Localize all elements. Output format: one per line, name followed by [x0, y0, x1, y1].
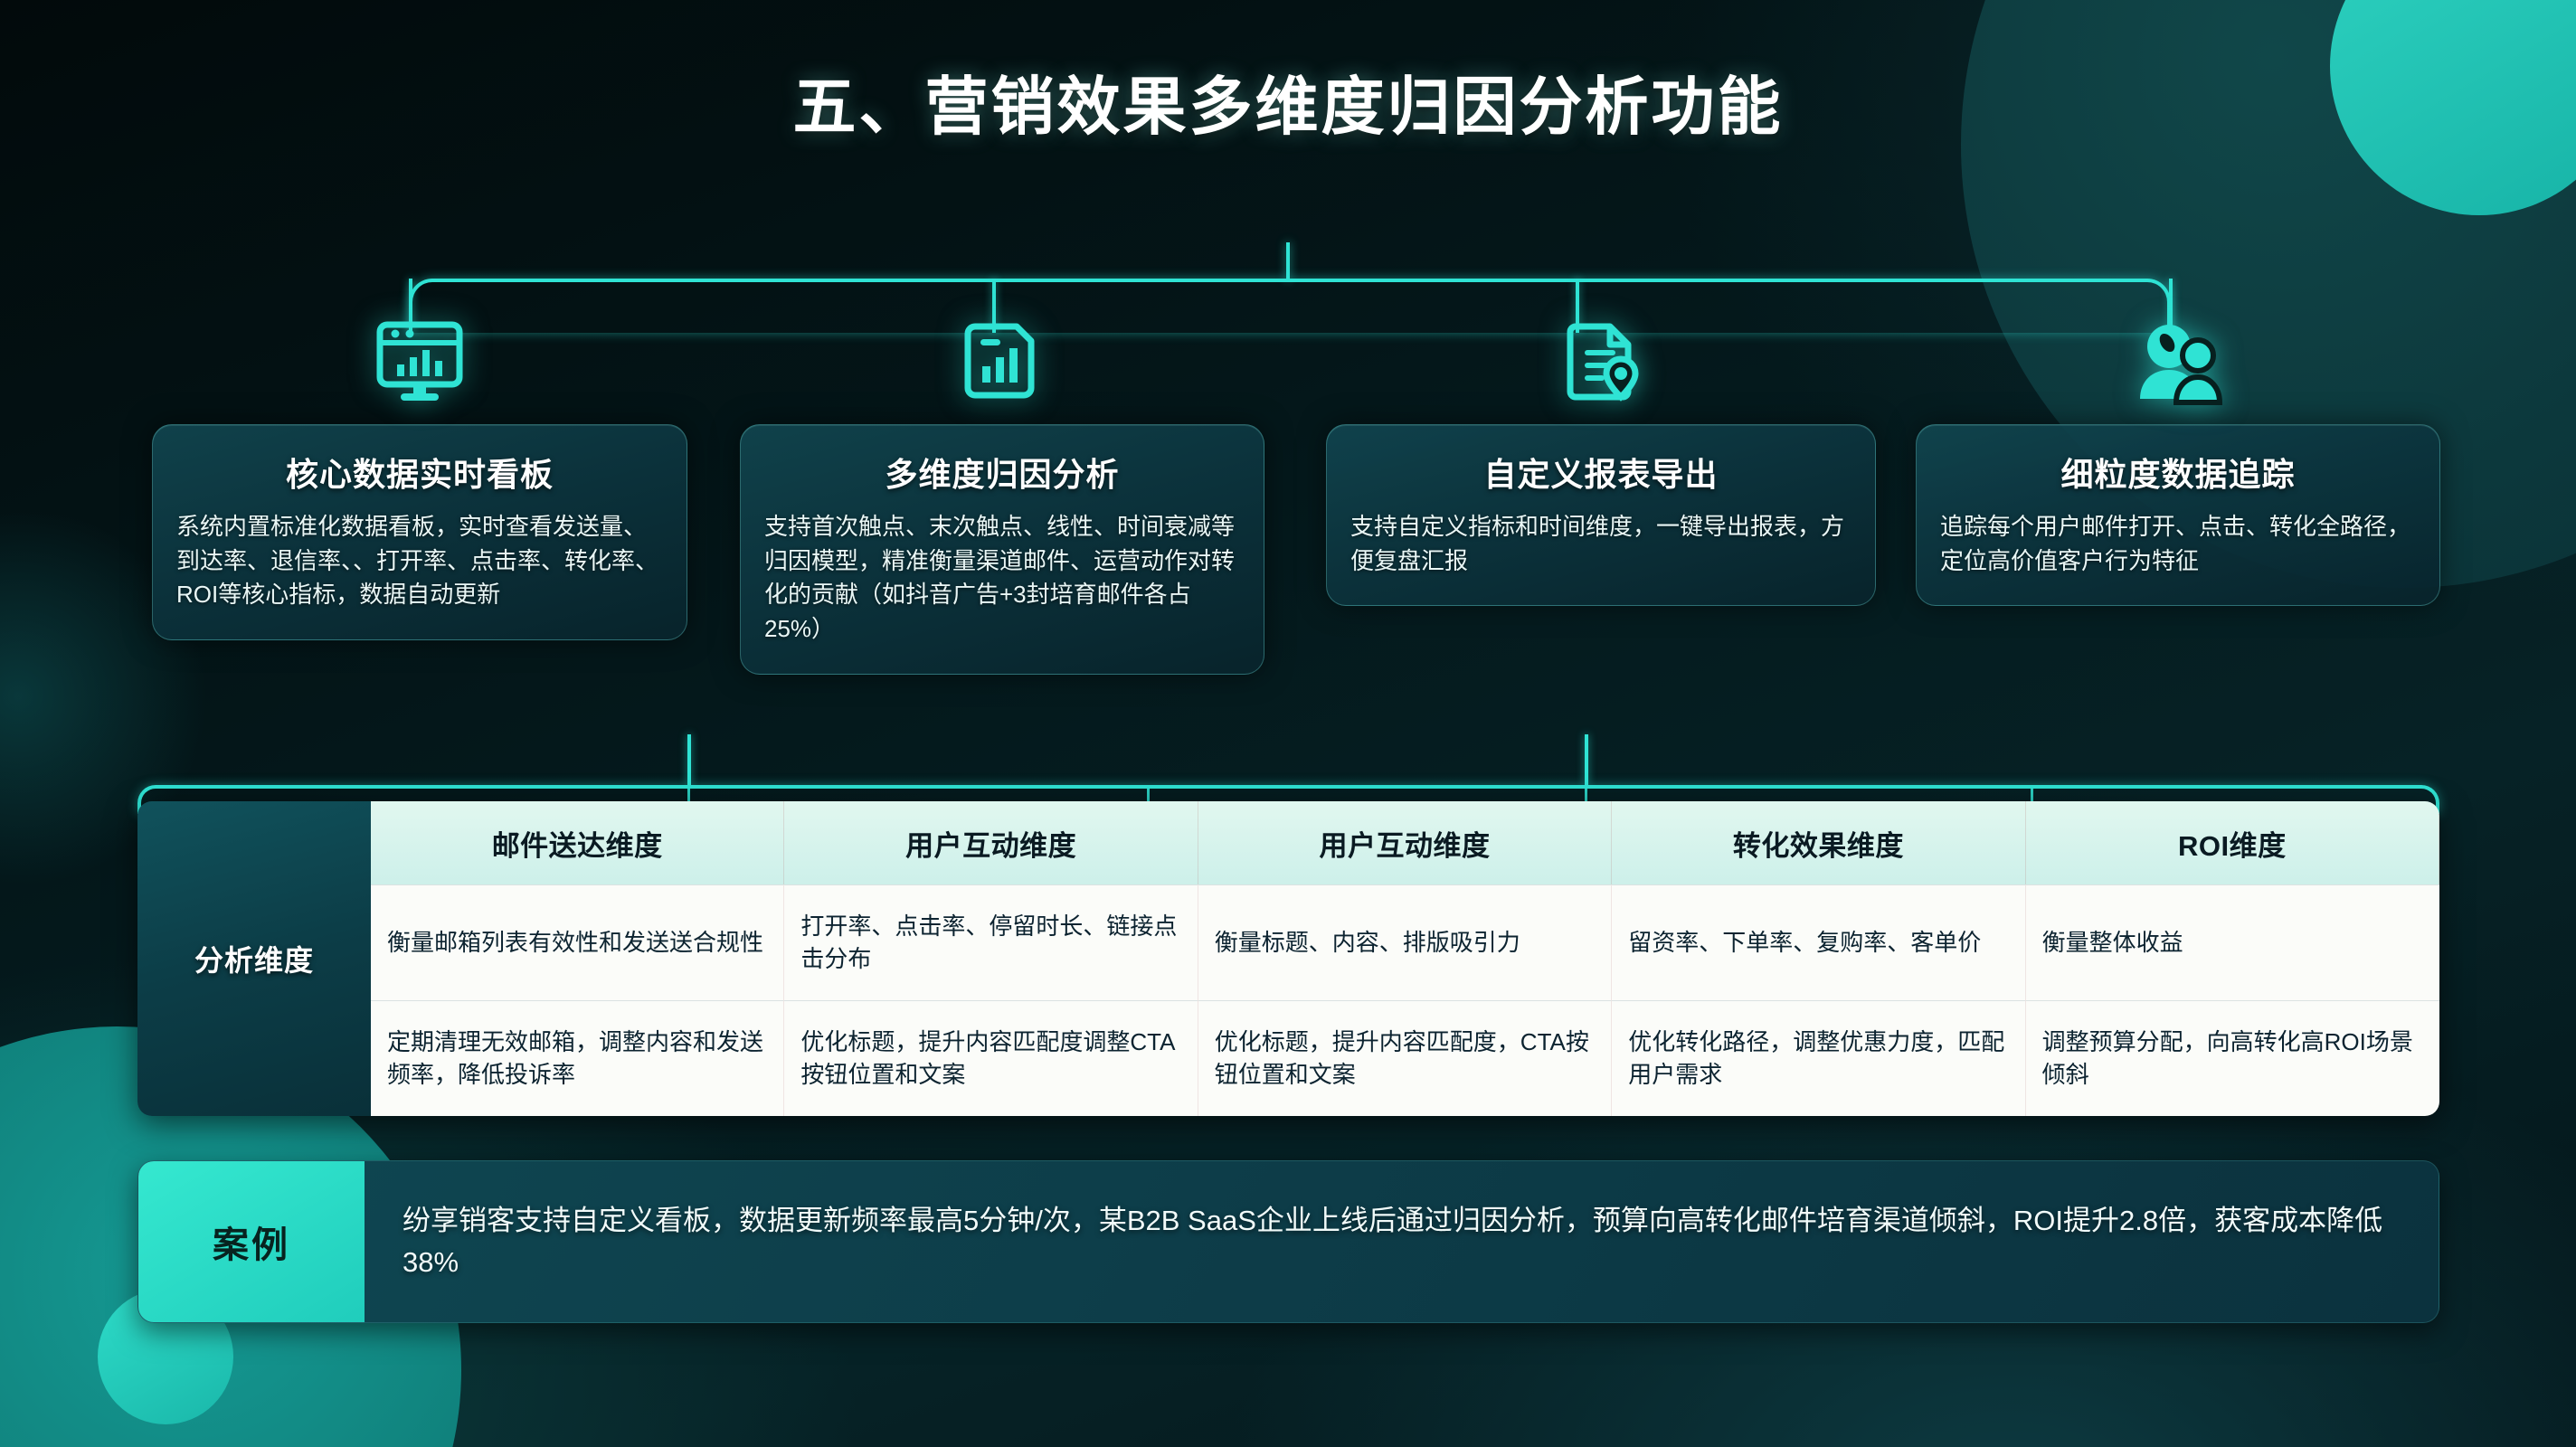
- connector-drop-lower-right: [1585, 734, 1588, 785]
- feature-card-1-title: 核心数据实时看板: [176, 449, 663, 496]
- table-header-cell-5: ROI维度: [2026, 801, 2439, 884]
- table-header-cell-4: 转化效果维度: [1612, 801, 2025, 884]
- feature-card-2[interactable]: 多维度归因分析 支持首次触点、末次触点、线性、时间衰减等归因模型，精准衡量渠道邮…: [740, 321, 1264, 675]
- table-row-label: 分析维度: [137, 801, 371, 1116]
- case-badge: 案例: [138, 1161, 365, 1322]
- dimension-table: 分析维度 邮件送达维度 用户互动维度 用户互动维度 转化效果维度 ROI维度 衡…: [137, 801, 2439, 1116]
- feature-card-3-title: 自定义报表导出: [1350, 449, 1851, 496]
- document-pin-icon: [1326, 321, 1876, 404]
- dashboard-monitor-icon: [152, 321, 687, 404]
- feature-card-4-title: 细粒度数据追踪: [1940, 449, 2416, 496]
- feature-card-1-body: 核心数据实时看板 系统内置标准化数据看板，实时查看发送量、到达率、退信率、、打开…: [152, 424, 687, 640]
- feature-card-3-body: 自定义报表导出 支持自定义指标和时间维度，一键导出报表，方便复盘汇报: [1326, 424, 1876, 606]
- feature-card-4-body: 细粒度数据追踪 追踪每个用户邮件打开、点击、转化全路径，定位高价值客户行为特征: [1916, 424, 2440, 606]
- case-text: 纷享销客支持自定义看板，数据更新频率最高5分钟/次，某B2B SaaS企业上线后…: [365, 1161, 2439, 1322]
- table-row: 优化转化路径，调整优惠力度，匹配用户需求: [1612, 1000, 2025, 1116]
- table-header-cell-3: 用户互动维度: [1198, 801, 1612, 884]
- connector-stub-title: [1286, 242, 1290, 280]
- report-bar-chart-icon: [740, 321, 1264, 404]
- connector-drop-lower-left: [687, 734, 691, 785]
- users-group-icon: [1916, 321, 2440, 404]
- case-study-box: 案例 纷享销客支持自定义看板，数据更新频率最高5分钟/次，某B2B SaaS企业…: [137, 1160, 2439, 1323]
- feature-card-1[interactable]: 核心数据实时看板 系统内置标准化数据看板，实时查看发送量、到达率、退信率、、打开…: [152, 321, 687, 640]
- table-row: 打开率、点击率、停留时长、链接点击分布: [784, 884, 1198, 1000]
- table-row: 定期清理无效邮箱，调整内容和发送频率，降低投诉率: [371, 1000, 784, 1116]
- feature-card-2-desc: 支持首次触点、末次触点、线性、时间衰减等归因模型，精准衡量渠道邮件、运营动作对转…: [764, 510, 1240, 647]
- table-row: 留资率、下单率、复购率、客单价: [1612, 884, 2025, 1000]
- table-row: 优化标题，提升内容匹配度调整CTA按钮位置和文案: [784, 1000, 1198, 1116]
- feature-card-2-title: 多维度归因分析: [764, 449, 1240, 496]
- case-badge-label: 案例: [213, 1215, 290, 1268]
- table-row-label-text: 分析维度: [194, 938, 314, 979]
- feature-card-1-desc: 系统内置标准化数据看板，实时查看发送量、到达率、退信率、、打开率、点击率、转化率…: [176, 510, 663, 612]
- table-row: 衡量整体收益: [2026, 884, 2439, 1000]
- feature-card-3-desc: 支持自定义指标和时间维度，一键导出报表，方便复盘汇报: [1350, 510, 1851, 578]
- table-row: 衡量标题、内容、排版吸引力: [1198, 884, 1612, 1000]
- feature-card-4-desc: 追踪每个用户邮件打开、点击、转化全路径，定位高价值客户行为特征: [1940, 510, 2416, 578]
- feature-card-4[interactable]: 细粒度数据追踪 追踪每个用户邮件打开、点击、转化全路径，定位高价值客户行为特征: [1916, 321, 2440, 606]
- feature-card-3[interactable]: 自定义报表导出 支持自定义指标和时间维度，一键导出报表，方便复盘汇报: [1326, 321, 1876, 606]
- table-header-cell-2: 用户互动维度: [784, 801, 1198, 884]
- table-row: 优化标题，提升内容匹配度，CTA按钮位置和文案: [1198, 1000, 1612, 1116]
- table-header-cell-1: 邮件送达维度: [371, 801, 784, 884]
- page-title: 五、营销效果多维度归因分析功能: [0, 56, 2576, 147]
- table-row: 调整预算分配，向高转化高ROI场景倾斜: [2026, 1000, 2439, 1116]
- feature-card-2-body: 多维度归因分析 支持首次触点、末次触点、线性、时间衰减等归因模型，精准衡量渠道邮…: [740, 424, 1264, 675]
- table-row: 衡量邮箱列表有效性和发送送合规性: [371, 884, 784, 1000]
